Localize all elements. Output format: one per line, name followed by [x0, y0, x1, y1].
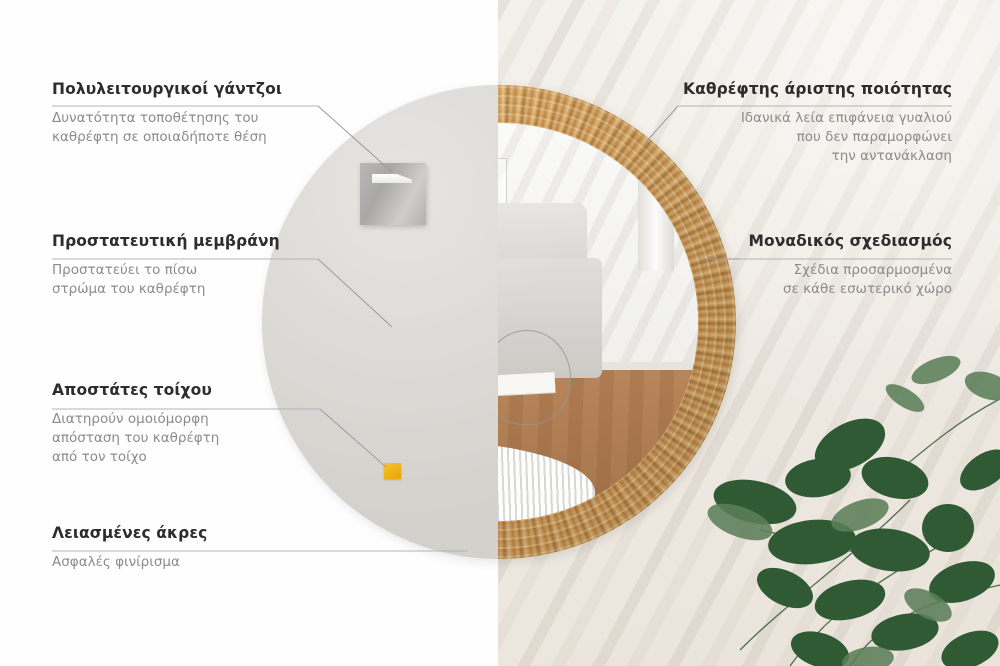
callout-line: Δυνατότητα τοποθέτησης του	[52, 109, 282, 128]
callout-line: Ασφαλές φινίρισμα	[52, 553, 207, 572]
callout-line: Διατηρούν ομοιόμορφη	[52, 410, 219, 429]
callout-line: Ιδανικά λεία επιφάνεια γυαλιού	[683, 109, 952, 128]
callout-line: απόσταση του καθρέφτη	[52, 429, 219, 448]
callout-design: Μοναδικός σχεδιασμός Σχέδια προσαρμοσμέν…	[748, 232, 952, 299]
callout-line: που δεν παραμορφώνει	[683, 128, 952, 147]
callout-line: Προστατεύει το πίσω	[52, 261, 280, 280]
callout-line: σε κάθε εσωτερικό χώρο	[748, 280, 952, 299]
wall-spacer	[384, 463, 401, 479]
callout-title: Αποστάτες τοίχου	[52, 381, 219, 399]
callout-description: Δυνατότητα τοποθέτησης του καθρέφτη σε ο…	[52, 109, 282, 147]
callout-edges: Λειασμένες άκρες Ασφαλές φινίρισμα	[52, 524, 207, 572]
callout-description: Προστατεύει το πίσω στρώμα του καθρέφτη	[52, 261, 280, 299]
callout-line: την αντανάκλαση	[683, 147, 952, 166]
callout-membrane: Προστατευτική μεμβράνη Προστατεύει το πί…	[52, 232, 280, 299]
callout-hooks: Πολυλειτουργικοί γάντζοι Δυνατότητα τοπο…	[52, 80, 282, 147]
callout-line: καθρέφτη σε οποιαδήποτε θέση	[52, 128, 282, 147]
product-mirror	[262, 85, 736, 559]
callout-description: Διατηρούν ομοιόμορφη απόσταση του καθρέφ…	[52, 410, 219, 467]
callout-quality: Καθρέφτης άριστης ποιότητας Ιδανικά λεία…	[683, 80, 952, 166]
callout-title: Προστατευτική μεμβράνη	[52, 232, 280, 250]
callout-title: Μοναδικός σχεδιασμός	[748, 232, 952, 250]
infographic-canvas: Πολυλειτουργικοί γάντζοι Δυνατότητα τοπο…	[0, 0, 1000, 666]
hook-plate	[360, 163, 426, 225]
foreground-plant	[700, 350, 1000, 666]
callout-title: Καθρέφτης άριστης ποιότητας	[683, 80, 952, 98]
callout-description: Ασφαλές φινίρισμα	[52, 553, 207, 572]
callout-line: Σχέδια προσαρμοσμένα	[748, 261, 952, 280]
callout-title: Λειασμένες άκρες	[52, 524, 207, 542]
callout-line: από τον τοίχο	[52, 448, 219, 467]
callout-title: Πολυλειτουργικοί γάντζοι	[52, 80, 282, 98]
callout-description: Σχέδια προσαρμοσμένα σε κάθε εσωτερικό χ…	[748, 261, 952, 299]
callout-description: Ιδανικά λεία επιφάνεια γυαλιού που δεν π…	[683, 109, 952, 166]
hook-slot-icon	[372, 174, 412, 183]
callout-spacers: Αποστάτες τοίχου Διατηρούν ομοιόμορφη απ…	[52, 381, 219, 467]
callout-line: στρώμα του καθρέφτη	[52, 280, 280, 299]
